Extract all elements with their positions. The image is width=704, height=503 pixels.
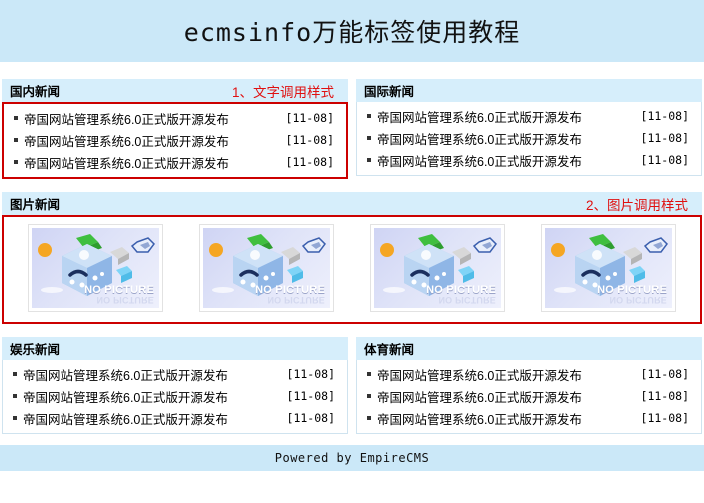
picture-card[interactable]: NO PICTURE NO PICTURE [28, 224, 163, 312]
page-header: ecmsinfo万能标签使用教程 [0, 0, 704, 63]
bullet-icon [367, 394, 371, 398]
entertainment-news-title: 娱乐新闻 [10, 339, 60, 358]
picture-card[interactable]: NO PICTURE NO PICTURE [541, 224, 676, 312]
sports-news-list: 帝国网站管理系统6.0正式版开源发布 [11-08] 帝国网站管理系统6.0正式… [357, 363, 701, 429]
no-picture-reflection: NO PICTURE [438, 295, 496, 305]
sports-news-title: 体育新闻 [364, 339, 414, 358]
text-news-row: 国内新闻 1、文字调用样式 帝国网站管理系统6.0正式版开源发布 [11-08]… [0, 78, 704, 179]
bullet-icon [14, 138, 18, 142]
domestic-news-column: 国内新闻 1、文字调用样式 帝国网站管理系统6.0正式版开源发布 [11-08]… [2, 78, 348, 179]
domestic-news-title: 国内新闻 [10, 81, 60, 100]
news-title[interactable]: 帝国网站管理系统6.0正式版开源发布 [23, 365, 228, 384]
page-title: ecmsinfo万能标签使用教程 [184, 13, 520, 49]
list-item[interactable]: 帝国网站管理系统6.0正式版开源发布 [11-08] [3, 407, 347, 429]
news-date: [11-08] [276, 155, 334, 169]
picture-placeholder: NO PICTURE NO PICTURE [545, 228, 672, 308]
news-date: [11-08] [276, 111, 334, 125]
bullet-icon [367, 416, 371, 420]
news-title[interactable]: 帝国网站管理系统6.0正式版开源发布 [24, 153, 229, 172]
picture-news-row: 图片新闻 2、图片调用样式 [0, 191, 704, 324]
news-title[interactable]: 帝国网站管理系统6.0正式版开源发布 [377, 129, 582, 148]
picture-placeholder: NO PICTURE NO PICTURE [374, 228, 501, 308]
news-date: [11-08] [631, 411, 689, 425]
picture-placeholder: NO PICTURE NO PICTURE [203, 228, 330, 308]
news-title[interactable]: 帝国网站管理系统6.0正式版开源发布 [24, 131, 229, 150]
domestic-news-list: 帝国网站管理系统6.0正式版开源发布 [11-08] 帝国网站管理系统6.0正式… [4, 107, 346, 173]
bullet-icon [14, 116, 18, 120]
news-date: [11-08] [631, 131, 689, 145]
picture-news-body: NO PICTURE NO PICTURE [2, 215, 702, 324]
news-title[interactable]: 帝国网站管理系统6.0正式版开源发布 [377, 107, 582, 126]
list-item[interactable]: 帝国网站管理系统6.0正式版开源发布 [11-08] [357, 407, 701, 429]
bullet-icon [367, 158, 371, 162]
footer-spacer [0, 434, 704, 444]
bullet-icon [13, 416, 17, 420]
news-title[interactable]: 帝国网站管理系统6.0正式版开源发布 [24, 109, 229, 128]
footer-credit: Powered by EmpireCMS [275, 451, 430, 465]
picture-news-title: 图片新闻 [10, 194, 60, 213]
sports-news-body: 帝国网站管理系统6.0正式版开源发布 [11-08] 帝国网站管理系统6.0正式… [356, 360, 702, 434]
list-item[interactable]: 帝国网站管理系统6.0正式版开源发布 [11-08] [3, 385, 347, 407]
entertainment-news-header: 娱乐新闻 [2, 336, 348, 360]
no-picture-reflection: NO PICTURE [609, 295, 667, 305]
row-spacer [0, 179, 704, 191]
annotation-image-style: 2、图片调用样式 [586, 194, 688, 214]
picture-news-column: 图片新闻 2、图片调用样式 [2, 191, 702, 324]
picture-card[interactable]: NO PICTURE NO PICTURE [370, 224, 505, 312]
news-title[interactable]: 帝国网站管理系统6.0正式版开源发布 [377, 387, 582, 406]
list-item[interactable]: 帝国网站管理系统6.0正式版开源发布 [11-08] [4, 129, 346, 151]
header-spacer [0, 63, 704, 78]
entertainment-news-body: 帝国网站管理系统6.0正式版开源发布 [11-08] 帝国网站管理系统6.0正式… [2, 360, 348, 434]
bullet-icon [367, 114, 371, 118]
news-date: [11-08] [277, 389, 335, 403]
news-date: [11-08] [277, 411, 335, 425]
entertainment-news-list: 帝国网站管理系统6.0正式版开源发布 [11-08] 帝国网站管理系统6.0正式… [3, 363, 347, 429]
list-item[interactable]: 帝国网站管理系统6.0正式版开源发布 [11-08] [4, 107, 346, 129]
bullet-icon [367, 136, 371, 140]
bottom-news-row: 娱乐新闻 帝国网站管理系统6.0正式版开源发布 [11-08] 帝国网站管理系统… [0, 336, 704, 434]
news-date: [11-08] [631, 367, 689, 381]
news-date: [11-08] [277, 367, 335, 381]
picture-card[interactable]: NO PICTURE NO PICTURE [199, 224, 334, 312]
domestic-news-body: 帝国网站管理系统6.0正式版开源发布 [11-08] 帝国网站管理系统6.0正式… [2, 102, 348, 179]
news-title[interactable]: 帝国网站管理系统6.0正式版开源发布 [23, 409, 228, 428]
list-item[interactable]: 帝国网站管理系统6.0正式版开源发布 [11-08] [3, 363, 347, 385]
picture-strip: NO PICTURE NO PICTURE [4, 220, 700, 318]
sports-news-header: 体育新闻 [356, 336, 702, 360]
entertainment-news-column: 娱乐新闻 帝国网站管理系统6.0正式版开源发布 [11-08] 帝国网站管理系统… [2, 336, 348, 434]
news-title[interactable]: 帝国网站管理系统6.0正式版开源发布 [377, 409, 582, 428]
news-title[interactable]: 帝国网站管理系统6.0正式版开源发布 [23, 387, 228, 406]
news-date: [11-08] [276, 133, 334, 147]
no-picture-reflection: NO PICTURE [267, 295, 325, 305]
news-title[interactable]: 帝国网站管理系统6.0正式版开源发布 [377, 151, 582, 170]
no-picture-reflection: NO PICTURE [96, 295, 154, 305]
bullet-icon [367, 372, 371, 376]
domestic-news-header: 国内新闻 1、文字调用样式 [2, 78, 348, 102]
list-item[interactable]: 帝国网站管理系统6.0正式版开源发布 [11-08] [4, 151, 346, 173]
row-spacer [0, 324, 704, 336]
bullet-icon [13, 372, 17, 376]
annotation-text-style: 1、文字调用样式 [232, 81, 334, 101]
picture-news-header: 图片新闻 2、图片调用样式 [2, 191, 702, 215]
bullet-icon [14, 160, 18, 164]
international-news-list: 帝国网站管理系统6.0正式版开源发布 [11-08] 帝国网站管理系统6.0正式… [357, 105, 701, 171]
international-news-title: 国际新闻 [364, 81, 414, 100]
list-item[interactable]: 帝国网站管理系统6.0正式版开源发布 [11-08] [357, 385, 701, 407]
list-item[interactable]: 帝国网站管理系统6.0正式版开源发布 [11-08] [357, 105, 701, 127]
news-title[interactable]: 帝国网站管理系统6.0正式版开源发布 [377, 365, 582, 384]
international-news-column: 国际新闻 帝国网站管理系统6.0正式版开源发布 [11-08] 帝国网站管理系统… [356, 78, 702, 179]
list-item[interactable]: 帝国网站管理系统6.0正式版开源发布 [11-08] [357, 363, 701, 385]
list-item[interactable]: 帝国网站管理系统6.0正式版开源发布 [11-08] [357, 149, 701, 171]
news-date: [11-08] [631, 153, 689, 167]
list-item[interactable]: 帝国网站管理系统6.0正式版开源发布 [11-08] [357, 127, 701, 149]
international-news-body: 帝国网站管理系统6.0正式版开源发布 [11-08] 帝国网站管理系统6.0正式… [356, 102, 702, 176]
news-date: [11-08] [631, 109, 689, 123]
picture-placeholder: NO PICTURE NO PICTURE [32, 228, 159, 308]
sports-news-column: 体育新闻 帝国网站管理系统6.0正式版开源发布 [11-08] 帝国网站管理系统… [356, 336, 702, 434]
news-date: [11-08] [631, 389, 689, 403]
international-news-header: 国际新闻 [356, 78, 702, 102]
bullet-icon [13, 394, 17, 398]
page-footer: Powered by EmpireCMS [0, 444, 704, 471]
